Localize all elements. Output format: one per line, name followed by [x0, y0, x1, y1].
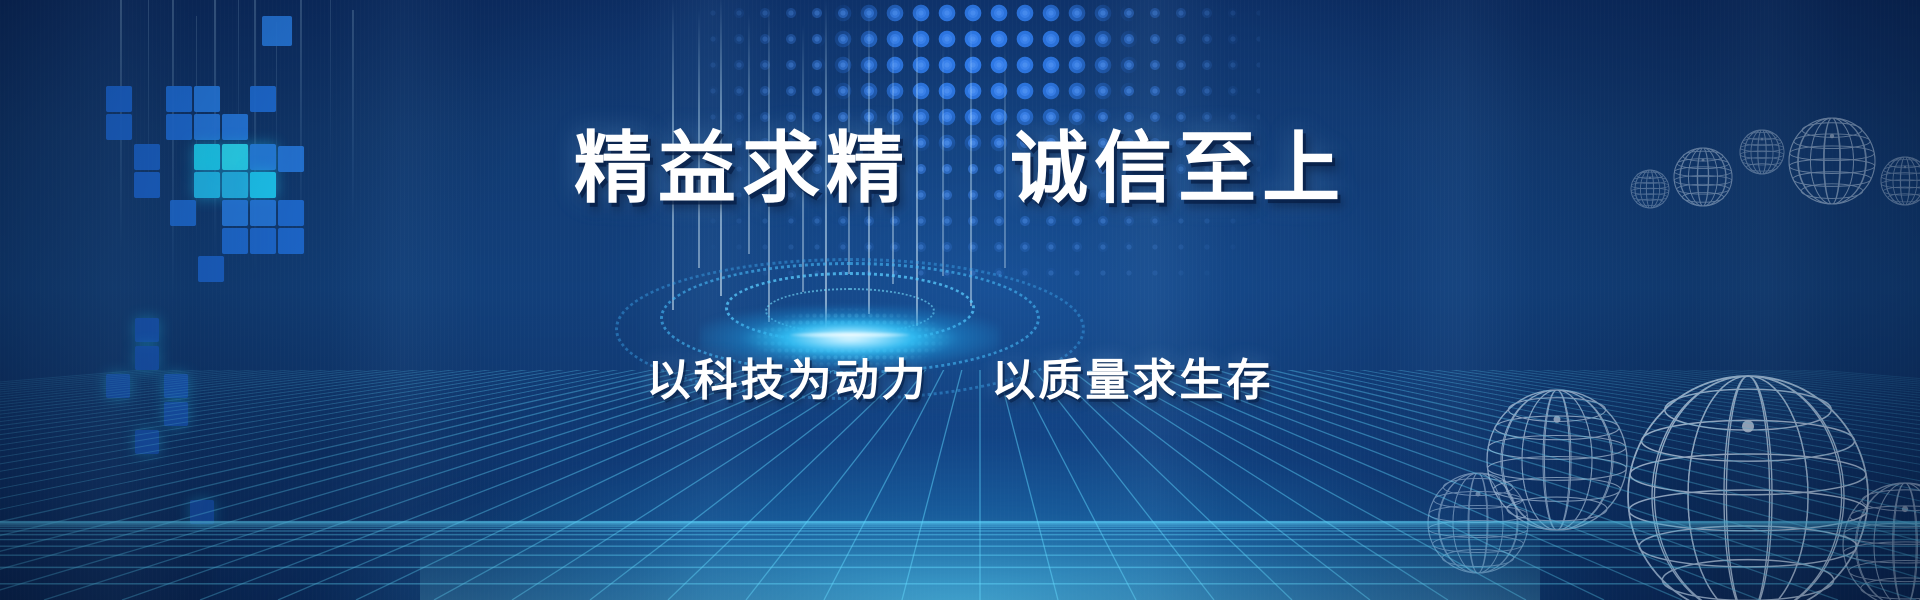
- hero-banner: 精益求精 诚信至上 以科技为动力 以质量求生存: [0, 0, 1920, 600]
- banner-headline: 精益求精 诚信至上: [0, 106, 1920, 218]
- wireframe-globe: [1843, 483, 1920, 600]
- headline-part-2: 诚信至上: [1010, 123, 1346, 214]
- orb-ring-inner: [725, 272, 975, 344]
- subline-part-1: 以科技为动力: [647, 355, 929, 406]
- orb-spark-highlight: [790, 332, 910, 338]
- wireframe-globe: [1428, 473, 1528, 573]
- floor-glow: [210, 410, 1710, 600]
- mosaic-square: [135, 318, 159, 342]
- orb-ring-core: [765, 288, 935, 334]
- subline-part-2: 以质量求生存: [991, 355, 1273, 406]
- mosaic-square: [135, 430, 159, 454]
- mosaic-square: [190, 500, 214, 524]
- mosaic-square: [222, 228, 248, 254]
- mosaic-square: [262, 16, 292, 46]
- mosaic-square: [278, 228, 304, 254]
- floor-bright-band: [420, 520, 1540, 600]
- banner-subline: 以科技为动力 以质量求生存: [0, 344, 1920, 408]
- wireframe-globe: [1487, 390, 1627, 530]
- background-light-bands: [0, 0, 1920, 600]
- mosaic-square: [198, 256, 224, 282]
- mosaic-square: [250, 228, 276, 254]
- background-pinstripe-texture: [0, 0, 1920, 600]
- wireframe-globes: [1220, 0, 1920, 600]
- vignette-overlay: [0, 0, 1920, 600]
- pixel-mosaic: [0, 0, 330, 540]
- wireframe-globe: [1628, 376, 1868, 600]
- headline-part-1: 精益求精: [574, 123, 910, 214]
